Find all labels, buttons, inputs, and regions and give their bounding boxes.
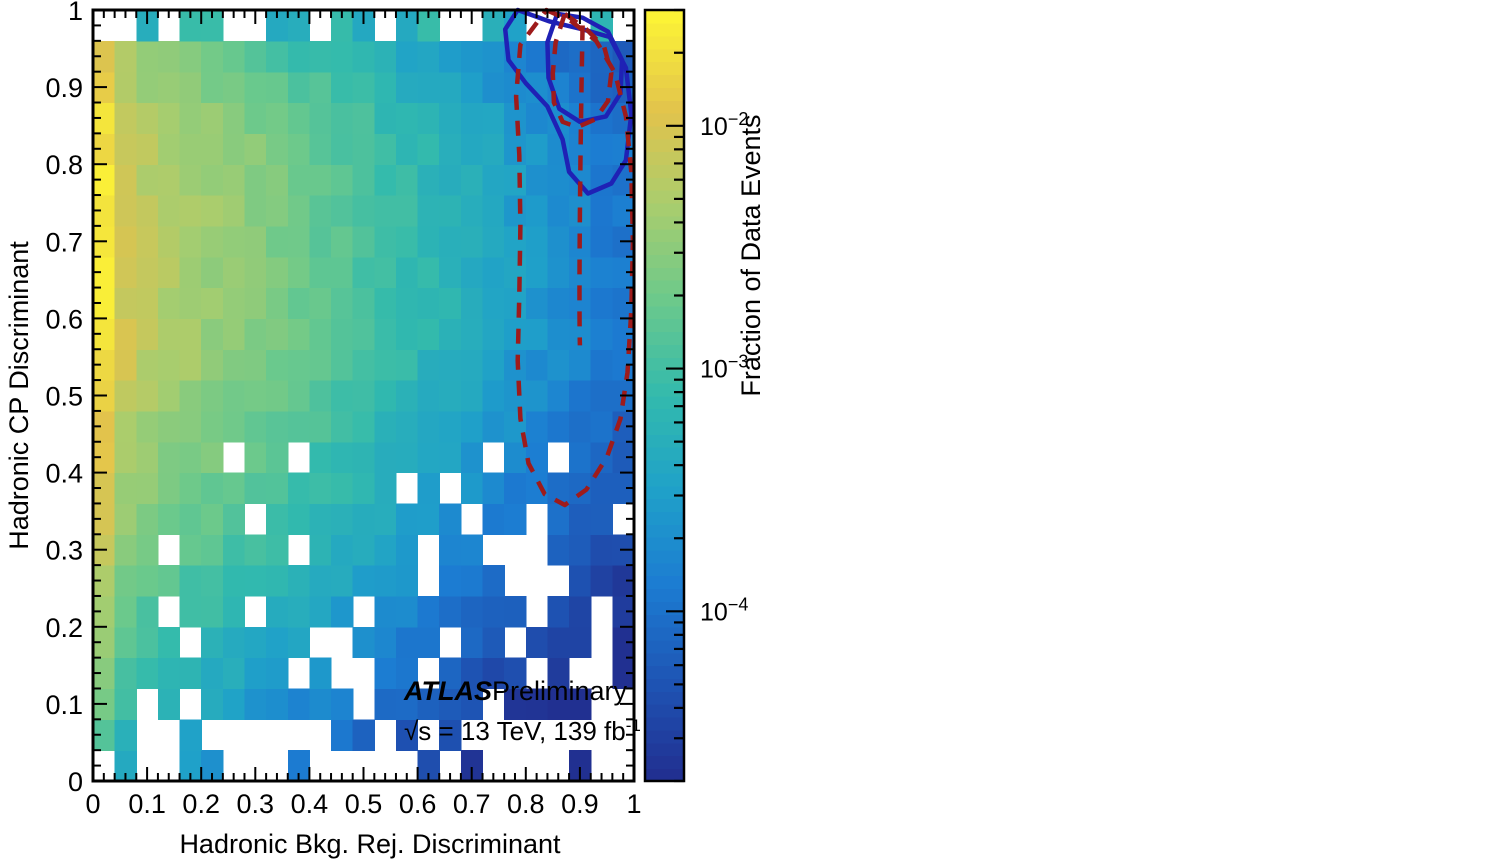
heatmap-cell — [483, 133, 505, 164]
heatmap-cell — [136, 226, 158, 257]
heatmap-cell — [591, 226, 613, 257]
heatmap-cell — [461, 195, 483, 226]
heatmap-cell — [547, 257, 569, 288]
heatmap-cell — [483, 195, 505, 226]
heatmap-cell — [331, 411, 353, 442]
heatmap-cell — [180, 503, 202, 534]
heatmap-cell — [547, 380, 569, 411]
heatmap-cell — [374, 133, 396, 164]
heatmap-cell — [201, 565, 223, 596]
y-tick-label: 1 — [68, 0, 83, 26]
heatmap-cell — [244, 473, 266, 504]
heatmap-cell — [201, 534, 223, 565]
heatmap-cell — [244, 688, 266, 719]
heatmap-cell — [418, 72, 440, 103]
heatmap-cell — [309, 226, 331, 257]
heatmap-cell — [591, 195, 613, 226]
heatmap-cell — [180, 719, 202, 750]
heatmap-cell — [158, 380, 180, 411]
heatmap-cell — [547, 349, 569, 380]
heatmap-cell — [461, 103, 483, 134]
heatmap-cell — [223, 288, 245, 319]
heatmap-cell — [158, 41, 180, 72]
heatmap-cell — [136, 72, 158, 103]
heatmap-cell — [158, 318, 180, 349]
heatmap-cell — [115, 349, 137, 380]
heatmap-cell — [396, 257, 418, 288]
x-tick-label: 0 — [85, 789, 100, 819]
y-tick-label: 0.4 — [45, 459, 83, 489]
heatmap-cell — [223, 72, 245, 103]
heatmap-cell — [158, 72, 180, 103]
heatmap-cell — [223, 411, 245, 442]
heatmap-cell — [288, 349, 310, 380]
heatmap-cell — [547, 195, 569, 226]
heatmap-cell — [353, 257, 375, 288]
heatmap-cell — [439, 318, 461, 349]
heatmap-cell — [374, 41, 396, 72]
heatmap-cell — [504, 318, 526, 349]
heatmap-cell — [331, 72, 353, 103]
heatmap-cell — [374, 195, 396, 226]
heatmap-cell — [244, 133, 266, 164]
heatmap-cell — [331, 257, 353, 288]
heatmap-cell — [353, 719, 375, 750]
heatmap-cell — [201, 442, 223, 473]
heatmap-cell — [244, 72, 266, 103]
heatmap-cell — [136, 349, 158, 380]
heatmap-cell — [180, 411, 202, 442]
heatmap-cell — [288, 627, 310, 658]
heatmap-cell — [136, 164, 158, 195]
heatmap-cell — [136, 442, 158, 473]
heatmap-cell — [266, 380, 288, 411]
heatmap-cell — [331, 534, 353, 565]
heatmap-cell — [374, 164, 396, 195]
heatmap-cell — [266, 503, 288, 534]
heatmap-cell — [547, 226, 569, 257]
heatmap-cell — [547, 627, 569, 658]
heatmap-cell — [483, 380, 505, 411]
x-tick-label: 0.9 — [561, 789, 599, 819]
heatmap-cell — [288, 195, 310, 226]
heatmap-cell — [201, 226, 223, 257]
atlas-text: ATLAS — [403, 676, 492, 706]
heatmap-cell — [223, 103, 245, 134]
heatmap-cell — [483, 103, 505, 134]
heatmap-cell — [418, 596, 440, 627]
heatmap-cell — [223, 503, 245, 534]
heatmap-cell — [331, 318, 353, 349]
heatmap-cell — [374, 103, 396, 134]
heatmap-cell — [244, 164, 266, 195]
heatmap-cell — [180, 596, 202, 627]
heatmap-cell — [591, 534, 613, 565]
heatmap-cell — [353, 195, 375, 226]
heatmap-cell — [266, 257, 288, 288]
heatmap-cell — [244, 103, 266, 134]
heatmap-cell — [483, 349, 505, 380]
heatmap-cell — [136, 133, 158, 164]
heatmap-cell — [136, 503, 158, 534]
heatmap-cell — [374, 627, 396, 658]
heatmap-cell — [374, 411, 396, 442]
heatmap-cell — [223, 164, 245, 195]
heatmap-cell — [483, 41, 505, 72]
heatmap-cell — [569, 596, 591, 627]
heatmap-cell — [569, 442, 591, 473]
heatmap-cell — [353, 72, 375, 103]
heatmap-cell — [180, 72, 202, 103]
heatmap-cell — [223, 133, 245, 164]
heatmap-cell — [244, 534, 266, 565]
heatmap-cell — [136, 596, 158, 627]
heatmap-cell — [266, 473, 288, 504]
heatmap-cell — [115, 565, 137, 596]
heatmap-cell — [569, 534, 591, 565]
heatmap-cell — [483, 72, 505, 103]
heatmap-cell — [439, 103, 461, 134]
x-tick-label: 0.3 — [237, 789, 275, 819]
heatmap-cell — [115, 164, 137, 195]
heatmap-cell — [115, 288, 137, 319]
heatmap-cell — [396, 627, 418, 658]
heatmap-cell — [180, 257, 202, 288]
heatmap-cell — [244, 349, 266, 380]
heatmap-cell — [461, 257, 483, 288]
heatmap-cell — [374, 534, 396, 565]
heatmap-cell — [201, 503, 223, 534]
heatmap-cell — [526, 411, 548, 442]
heatmap-cell — [158, 442, 180, 473]
heatmap-cell — [180, 349, 202, 380]
heatmap-cell — [244, 442, 266, 473]
heatmap-cell — [223, 596, 245, 627]
heatmap-cell — [374, 72, 396, 103]
heatmap-cell — [309, 596, 331, 627]
heatmap-cell — [418, 627, 440, 658]
heatmap-cell — [309, 349, 331, 380]
heatmap-cell — [309, 41, 331, 72]
heatmap-cell — [266, 627, 288, 658]
heatmap-cell — [483, 226, 505, 257]
heatmap-cell — [309, 473, 331, 504]
heatmap-cell — [526, 164, 548, 195]
heatmap-cell — [180, 318, 202, 349]
heatmap-cell — [591, 565, 613, 596]
heatmap-cell — [374, 349, 396, 380]
heatmap-cell — [504, 596, 526, 627]
heatmap-cell — [331, 226, 353, 257]
heatmap-cell — [309, 503, 331, 534]
heatmap-cell — [569, 380, 591, 411]
heatmap-cell — [244, 195, 266, 226]
heatmap-cell — [439, 226, 461, 257]
heatmap-cell — [483, 503, 505, 534]
heatmap-cell — [331, 41, 353, 72]
heatmap-cell — [288, 133, 310, 164]
bkg-rej-svg — [760, 0, 1500, 430]
y-tick-label: 0.5 — [45, 382, 83, 412]
heatmap-cell — [461, 133, 483, 164]
heatmap-cell — [115, 41, 137, 72]
heatmap-cell — [331, 688, 353, 719]
heatmap-cell — [201, 318, 223, 349]
heatmap-cell — [223, 349, 245, 380]
heatmap-cell — [526, 257, 548, 288]
heatmap-cell — [201, 257, 223, 288]
heatmap-cell — [439, 442, 461, 473]
heatmap-cell — [158, 257, 180, 288]
heatmap-cell — [526, 473, 548, 504]
heatmap-cell — [331, 349, 353, 380]
heatmap-cell — [461, 288, 483, 319]
heatmap-cell — [180, 380, 202, 411]
heatmap-cell — [158, 164, 180, 195]
heatmap-cell — [136, 41, 158, 72]
x-axis-title: Hadronic Bkg. Rej. Discriminant — [179, 829, 561, 859]
heatmap-cell — [180, 133, 202, 164]
heatmap-cell — [396, 133, 418, 164]
heatmap-cell — [115, 596, 137, 627]
preliminary-text: Preliminary — [492, 676, 628, 706]
heatmap-cell — [331, 195, 353, 226]
heatmap-cell — [353, 133, 375, 164]
heatmap-cell — [115, 257, 137, 288]
heatmap-cell — [547, 41, 569, 72]
heatmap-cell — [591, 380, 613, 411]
heatmap-cell — [115, 627, 137, 658]
heatmap-cell — [547, 596, 569, 627]
heatmap-cell — [353, 380, 375, 411]
heatmap-cell — [483, 596, 505, 627]
heatmap-cell — [158, 411, 180, 442]
heatmap-cell — [569, 411, 591, 442]
heatmap-cell — [266, 565, 288, 596]
x-tick-label: 0.6 — [399, 789, 437, 819]
heatmap-cell — [115, 72, 137, 103]
heatmap-cell — [136, 257, 158, 288]
heatmap-cell — [158, 503, 180, 534]
heatmap-cell — [396, 442, 418, 473]
y-axis-title: Hadronic CP Discriminant — [4, 241, 34, 550]
heatmap-cell — [396, 103, 418, 134]
heatmap-cell — [115, 103, 137, 134]
heatmap-cell — [439, 596, 461, 627]
heatmap-cell — [396, 72, 418, 103]
heatmap-cell — [396, 596, 418, 627]
heatmap-cell — [418, 442, 440, 473]
heatmap-cell — [439, 349, 461, 380]
heatmap-cell — [439, 72, 461, 103]
heatmap-cell — [591, 411, 613, 442]
heatmap-cell — [439, 380, 461, 411]
heatmap-cell — [396, 226, 418, 257]
heatmap-cell — [591, 133, 613, 164]
heatmap-cell — [288, 473, 310, 504]
heatmap-cell — [504, 288, 526, 319]
heatmap-cell — [547, 411, 569, 442]
heatmap-cell — [353, 349, 375, 380]
heatmap-cell — [266, 349, 288, 380]
heatmap-cell — [331, 380, 353, 411]
heatmap-cell — [461, 349, 483, 380]
heatmap-cell — [353, 103, 375, 134]
heatmap-cell — [396, 318, 418, 349]
heatmap-cell — [223, 195, 245, 226]
heatmap-cell — [418, 257, 440, 288]
heatmap-cell — [439, 288, 461, 319]
heatmap-cell — [483, 411, 505, 442]
heatmap-cell — [418, 195, 440, 226]
heatmap-cell — [483, 473, 505, 504]
heatmap-cell — [115, 442, 137, 473]
heatmap-cell — [244, 226, 266, 257]
heatmap-cell — [439, 411, 461, 442]
heatmap-cell — [396, 195, 418, 226]
heatmap-cell — [331, 473, 353, 504]
heatmap-cell — [244, 318, 266, 349]
heatmap-cell — [353, 442, 375, 473]
heatmap-cell — [374, 380, 396, 411]
heatmap-cell — [180, 226, 202, 257]
heatmap-cell — [418, 103, 440, 134]
heatmap-cell — [288, 411, 310, 442]
heatmap-cell — [418, 349, 440, 380]
heatmap-cell — [201, 380, 223, 411]
heatmap-cell — [288, 596, 310, 627]
heatmap-cell — [288, 226, 310, 257]
heatmap-cell — [115, 133, 137, 164]
heatmap-cell — [569, 503, 591, 534]
heatmap-cell — [353, 565, 375, 596]
heatmap-cell — [461, 534, 483, 565]
heatmap-cell — [136, 627, 158, 658]
heatmap-cell — [201, 103, 223, 134]
heatmap-cell — [569, 565, 591, 596]
heatmap-cell — [418, 133, 440, 164]
heatmap-cell — [158, 226, 180, 257]
heatmap-cell — [374, 318, 396, 349]
heatmap-cell — [461, 72, 483, 103]
heatmap-cell — [504, 133, 526, 164]
heatmap-cell — [136, 473, 158, 504]
heatmap-cell — [526, 103, 548, 134]
heatmap-cell — [331, 565, 353, 596]
heatmap-cell — [201, 688, 223, 719]
heatmap-cell — [353, 41, 375, 72]
heatmap-cell — [461, 411, 483, 442]
heatmap-cell — [331, 503, 353, 534]
heatmap-cell — [288, 380, 310, 411]
heatmap-cell — [136, 380, 158, 411]
heatmap-cell — [418, 226, 440, 257]
heatmap-cell — [244, 380, 266, 411]
heatmap-cell — [439, 565, 461, 596]
heatmap-cell — [223, 226, 245, 257]
heatmap-cell — [201, 41, 223, 72]
heatmap-cell — [591, 318, 613, 349]
heatmap-cell — [115, 318, 137, 349]
y-tick-label: 0.2 — [45, 613, 83, 643]
heatmap-cell — [115, 658, 137, 689]
heatmap-cell — [547, 503, 569, 534]
heatmap-cell — [266, 164, 288, 195]
heatmap-cell — [396, 349, 418, 380]
heatmap-cell — [309, 72, 331, 103]
heatmap-cell — [591, 349, 613, 380]
heatmap-cell — [418, 318, 440, 349]
heatmap-cell — [115, 534, 137, 565]
heatmap-cell — [201, 164, 223, 195]
heatmap-cell — [569, 627, 591, 658]
heatmap-cell — [136, 195, 158, 226]
heatmap-cell — [331, 719, 353, 750]
heatmap-cell — [461, 596, 483, 627]
lumi-text: √s = 13 TeV, 139 fb-1 — [404, 716, 641, 746]
heatmap-cell — [266, 534, 288, 565]
heatmap-cell — [504, 195, 526, 226]
heatmap-cell — [396, 380, 418, 411]
heatmap-cell — [266, 596, 288, 627]
cp-disc-svg — [760, 425, 1500, 865]
heatmap-cell — [547, 534, 569, 565]
heatmap-cell — [244, 627, 266, 658]
heatmap-cell — [180, 658, 202, 689]
heatmap-cell — [201, 411, 223, 442]
heatmap-cell — [288, 72, 310, 103]
heatmap-cell — [461, 473, 483, 504]
heatmap-cell — [288, 503, 310, 534]
heatmap-cell — [158, 103, 180, 134]
heatmap-cell — [331, 288, 353, 319]
heatmap-cell — [461, 41, 483, 72]
heatmap-cell — [353, 503, 375, 534]
heatmap-cell — [547, 318, 569, 349]
x-tick-label: 0.2 — [182, 789, 220, 819]
y-tick-label: 0.9 — [45, 73, 83, 103]
heatmap-cell — [418, 164, 440, 195]
heatmap-cell — [201, 627, 223, 658]
heatmap-cell — [180, 534, 202, 565]
heatmap-cell — [504, 226, 526, 257]
heatmap-cell — [483, 164, 505, 195]
heatmap-cell — [461, 565, 483, 596]
heatmap-cell — [288, 41, 310, 72]
heatmap-cell — [461, 442, 483, 473]
heatmap-cell — [158, 473, 180, 504]
heatmap-cell — [439, 503, 461, 534]
heatmap-cells — [93, 10, 635, 782]
heatmap-cell — [309, 318, 331, 349]
heatmap-cell — [201, 133, 223, 164]
heatmap-cell — [158, 565, 180, 596]
heatmap-cell — [180, 164, 202, 195]
heatmap-cell — [266, 288, 288, 319]
heatmap-cell — [504, 442, 526, 473]
heatmap-cell — [331, 133, 353, 164]
heatmap-cell — [374, 288, 396, 319]
heatmap-cell — [201, 349, 223, 380]
heatmap-cell — [461, 164, 483, 195]
heatmap-cell — [396, 534, 418, 565]
panel-bkg-rej-1d — [760, 0, 1500, 430]
heatmap-cell — [504, 257, 526, 288]
heatmap-cell — [266, 318, 288, 349]
heatmap-cell — [201, 195, 223, 226]
heatmap-cell — [244, 288, 266, 319]
heatmap-cell — [526, 41, 548, 72]
